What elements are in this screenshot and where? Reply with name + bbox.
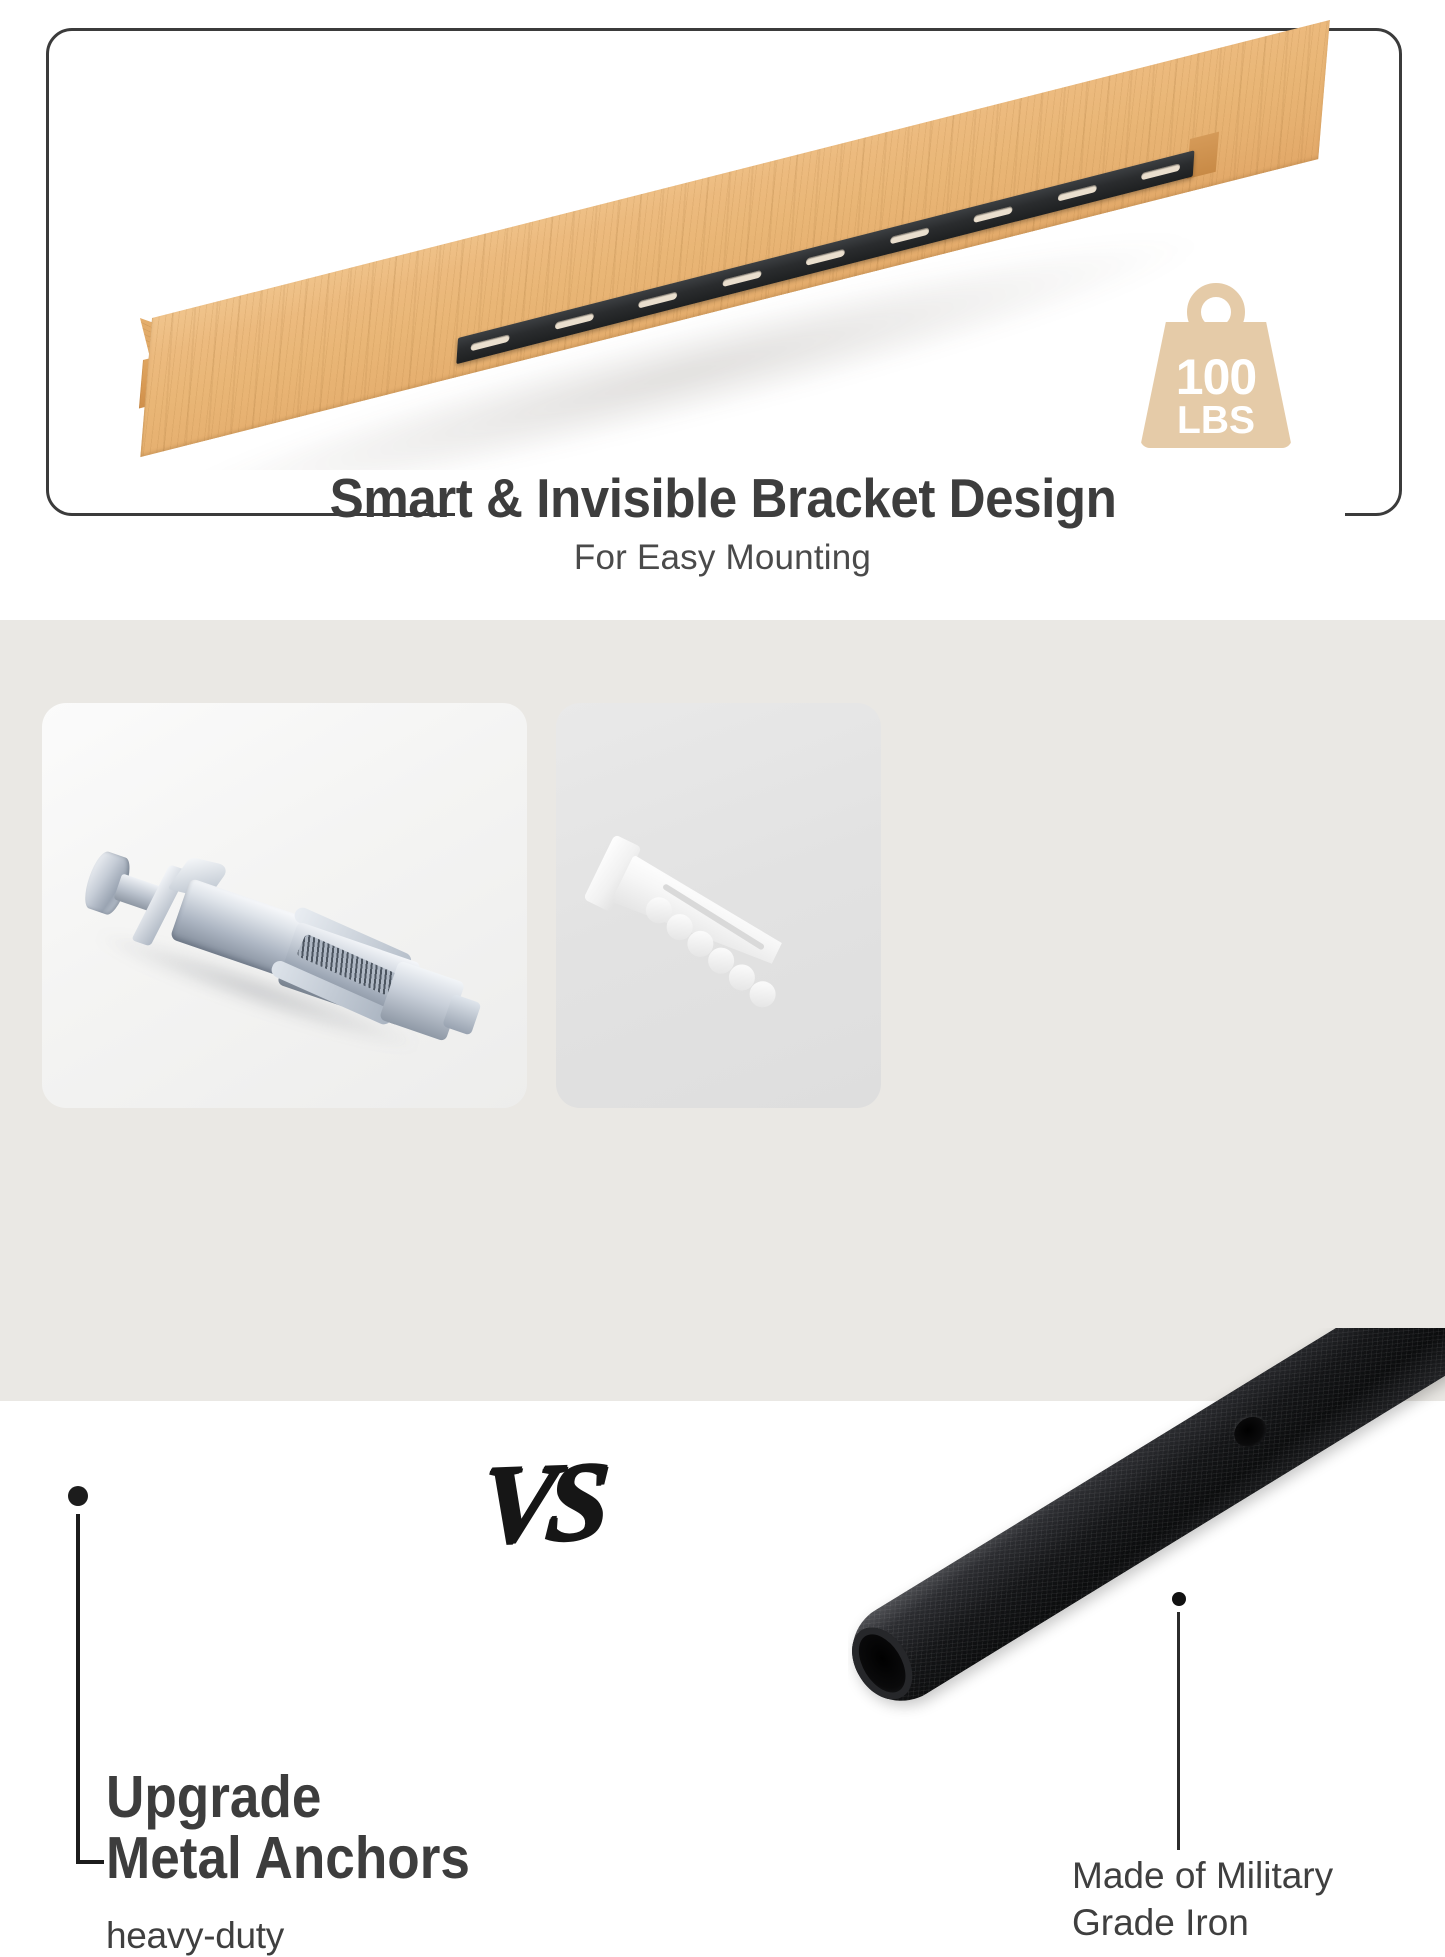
bracket-slot [973, 206, 1012, 223]
materials-section: VS Upgrade Metal Anchors heavy-duty Made… [0, 620, 1445, 1401]
bracket-slot [470, 334, 509, 351]
callout-ring-icon [1162, 1582, 1196, 1616]
bracket-slot [638, 291, 677, 308]
weight-capacity-label: 100 LBS [1140, 353, 1292, 440]
callout-leader-elbow [76, 1860, 104, 1864]
weight-number: 100 [1140, 353, 1292, 402]
iron-caption-line2: Grade Iron [1072, 1899, 1445, 1946]
smart-bracket-section: 100 LBS Smart & Invisible Bracket Design… [0, 0, 1445, 620]
bracket-slot [1057, 185, 1096, 202]
plastic-anchor-panel [556, 703, 881, 1108]
anchor-caption-block: Upgrade Metal Anchors heavy-duty [106, 1767, 726, 1957]
tube-screw-hole [1229, 1411, 1273, 1453]
bracket-slot [1141, 163, 1180, 180]
headline-block: Smart & Invisible Bracket Design For Eas… [0, 470, 1445, 578]
weight-icon: 100 LBS [1140, 283, 1292, 448]
bracket-slot [554, 313, 593, 330]
bracket-slot [890, 227, 929, 244]
black-iron-tube-icon [848, 1328, 1445, 1798]
iron-caption-block: Made of Military Grade Iron [1072, 1852, 1445, 1947]
versus-label: VS [476, 1442, 606, 1582]
anchor-caption-line2: Metal Anchors [106, 1828, 664, 1889]
anchor-caption-line1: Upgrade [106, 1767, 664, 1828]
callout-leader-line [1177, 1612, 1180, 1850]
metal-anchor-panel [42, 703, 527, 1108]
tube-body [848, 1328, 1445, 1719]
callout-leader-line [76, 1514, 80, 1864]
plastic-anchor-body [611, 855, 788, 977]
anchor-caption-sub: heavy-duty [106, 1915, 726, 1957]
callout-dot-icon [58, 1476, 98, 1516]
page-subtitle: For Easy Mounting [0, 538, 1445, 578]
bracket-slot [722, 270, 761, 287]
bracket-slot [806, 249, 845, 266]
iron-caption-line1: Made of Military [1072, 1852, 1445, 1899]
plastic-anchor-icon [566, 827, 854, 1050]
weight-unit: LBS [1140, 402, 1292, 440]
tube-open-end [848, 1617, 925, 1711]
metal-anchor-icon [47, 820, 497, 1108]
page-title: Smart & Invisible Bracket Design [329, 470, 1116, 526]
